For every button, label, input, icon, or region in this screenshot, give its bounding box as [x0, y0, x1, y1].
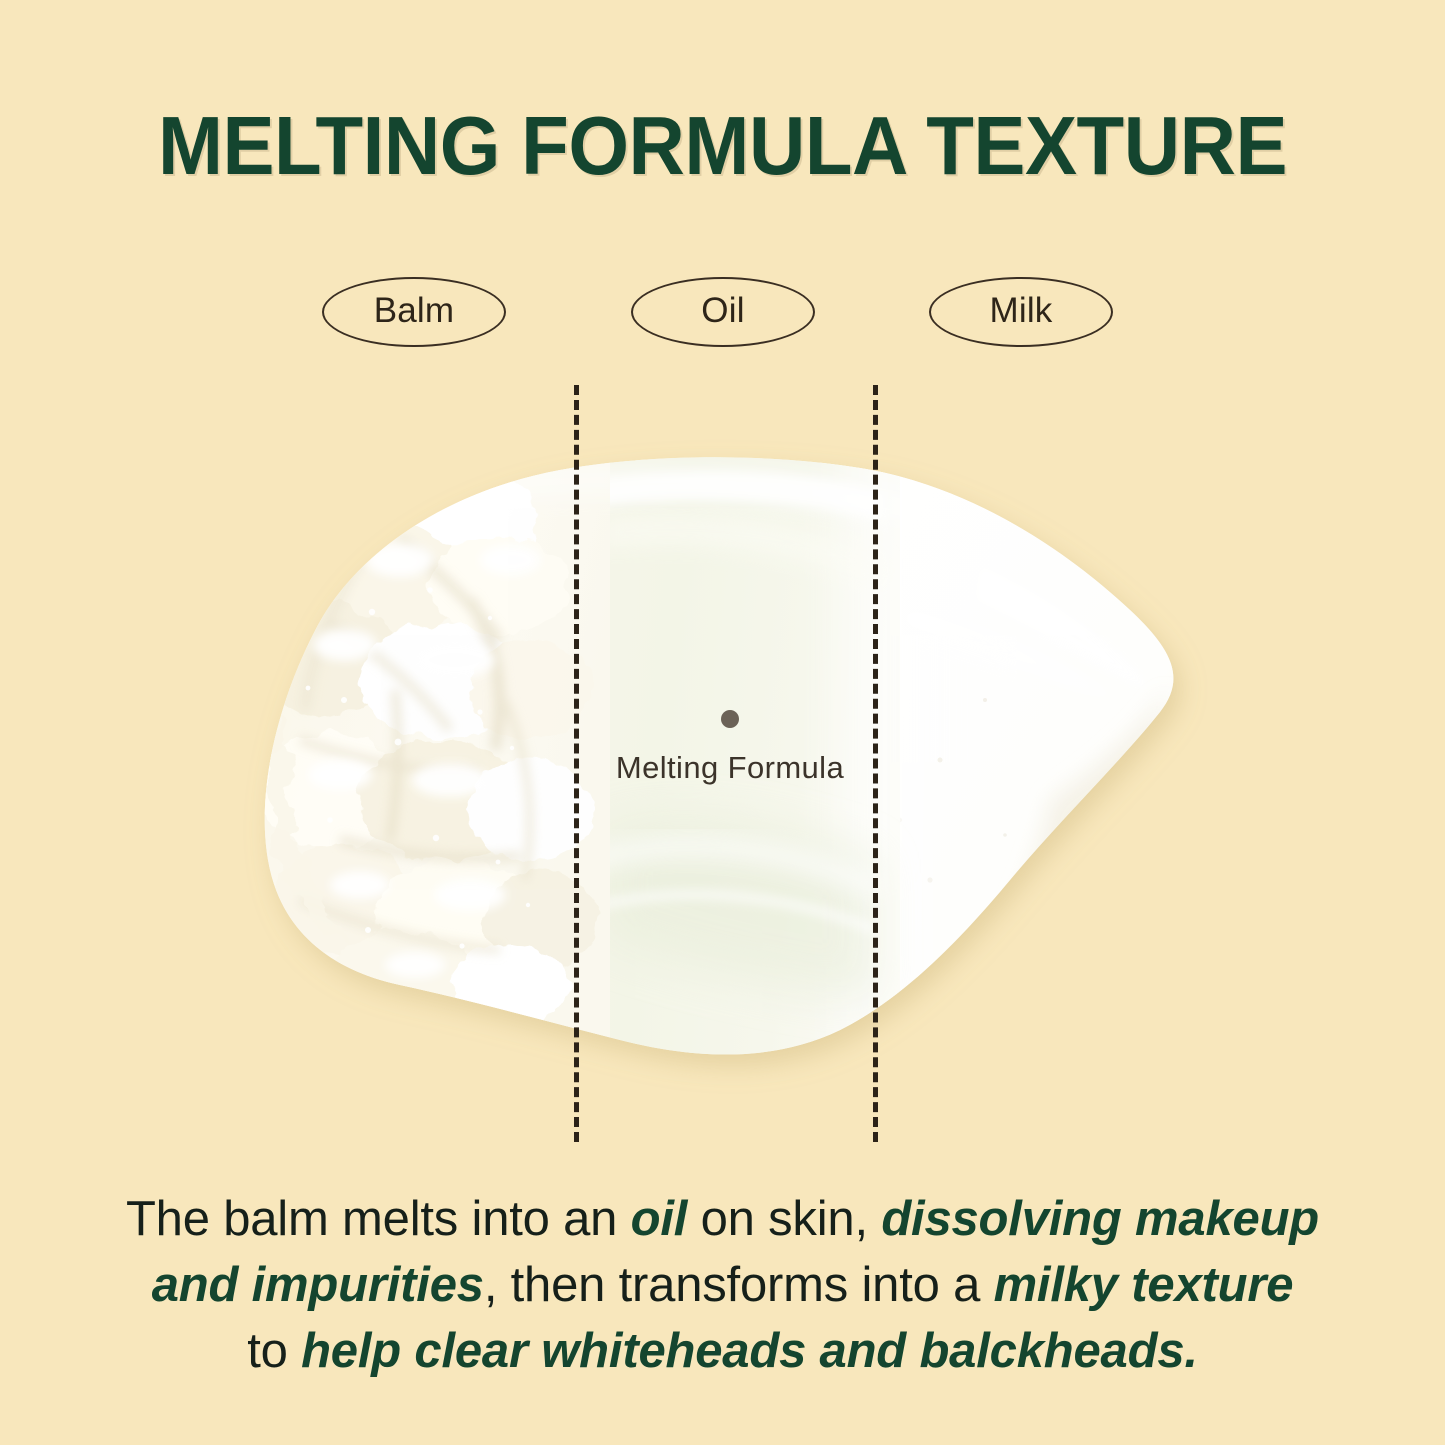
caption-seg: , then transforms into a: [484, 1258, 994, 1312]
caption-seg: to: [247, 1324, 301, 1378]
poster-canvas: MELTING FORMULA TEXTURE: [0, 0, 1445, 1445]
stage-label-oil[interactable]: Oil: [631, 277, 815, 347]
melting-formula-callout: Melting Formula: [600, 710, 860, 786]
stage-label-balm-text: Balm: [374, 291, 455, 331]
caption-line-2: and impurities, then transforms into a m…: [60, 1252, 1385, 1318]
page-title: MELTING FORMULA TEXTURE: [43, 104, 1401, 187]
caption-seg: on skin,: [687, 1192, 881, 1246]
caption-emphasis: and impurities: [152, 1258, 484, 1312]
caption-emphasis: dissolving makeup: [881, 1192, 1319, 1246]
stage-label-oil-text: Oil: [701, 291, 744, 331]
callout-dot-icon: [721, 710, 739, 728]
caption-line-3: to help clear whiteheads and balckheads.: [60, 1318, 1385, 1384]
caption-line-1: The balm melts into an oil on skin, diss…: [60, 1186, 1385, 1252]
callout-label: Melting Formula: [600, 750, 860, 786]
divider-balm-oil: [574, 385, 579, 1142]
divider-oil-milk: [873, 385, 878, 1142]
caption-paragraph: The balm melts into an oil on skin, diss…: [60, 1186, 1385, 1384]
stage-label-balm[interactable]: Balm: [322, 277, 506, 347]
caption-emphasis: milky texture: [994, 1258, 1294, 1312]
caption-emphasis: oil: [631, 1192, 688, 1246]
caption-emphasis: help clear whiteheads and balckheads.: [301, 1324, 1198, 1378]
stage-label-milk[interactable]: Milk: [929, 277, 1113, 347]
caption-seg: The balm melts into an: [126, 1192, 631, 1246]
stage-label-milk-text: Milk: [989, 291, 1052, 331]
